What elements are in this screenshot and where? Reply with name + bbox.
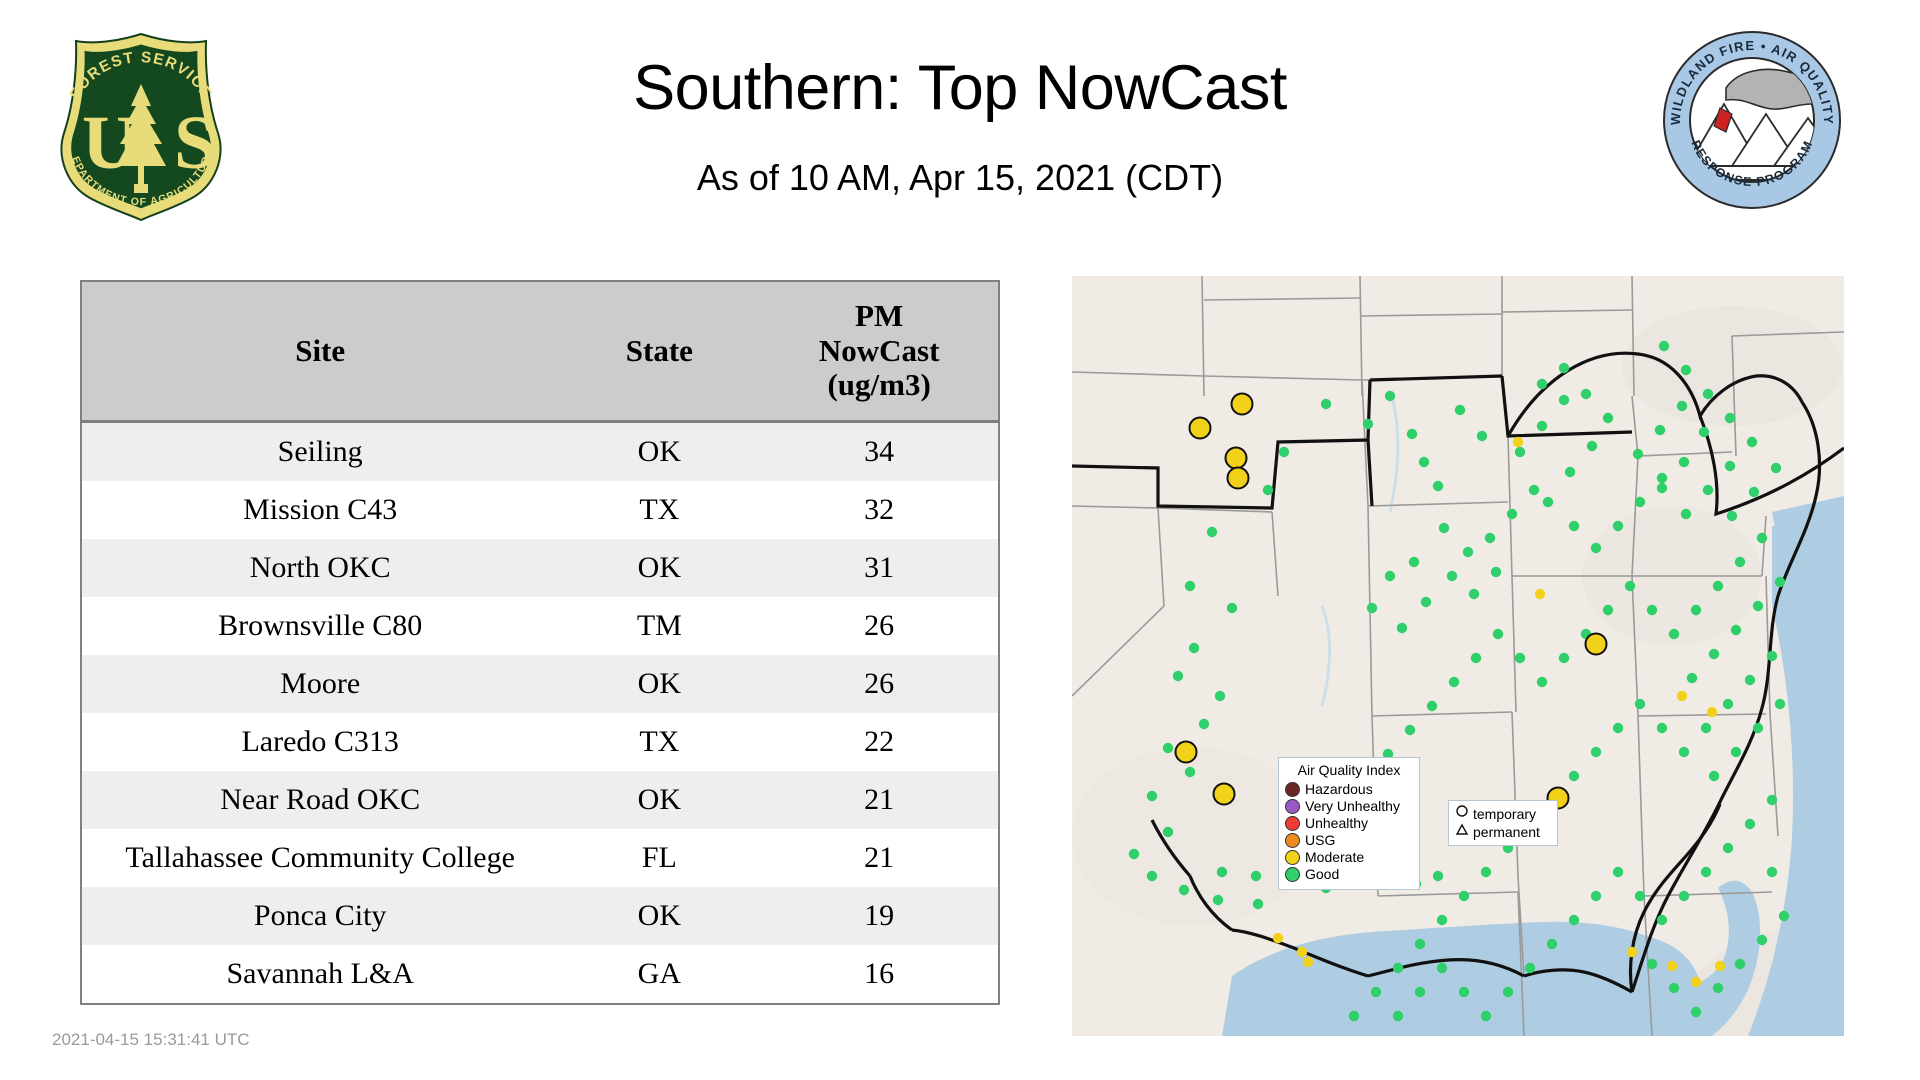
site-marker-good [1657, 473, 1667, 483]
site-marker-good [1393, 963, 1403, 973]
site-marker-good [1635, 497, 1645, 507]
site-marker-good [1421, 597, 1431, 607]
site-marker-good [1537, 677, 1547, 687]
site-marker-good [1613, 521, 1623, 531]
site-marker-good [1477, 431, 1487, 441]
site-marker-good [1415, 939, 1425, 949]
site-marker-good [1279, 447, 1289, 457]
table-cell-site: Near Road OKC [81, 771, 558, 829]
triangle-icon [1454, 823, 1470, 841]
site-marker-good [1185, 767, 1195, 777]
table-cell-value: 26 [760, 597, 999, 655]
site-marker-good [1481, 1011, 1491, 1021]
table-cell-state: GA [558, 945, 760, 1004]
column-header-pm-line3: (ug/m3) [764, 368, 994, 403]
table-cell-state: TX [558, 481, 760, 539]
site-marker-good [1659, 341, 1669, 351]
symbol-legend-label-temporary: temporary [1473, 806, 1536, 823]
site-marker-top-nowcast [1586, 634, 1607, 655]
table-row: Laredo C313TX22 [81, 713, 999, 771]
site-marker-top-nowcast [1228, 468, 1249, 489]
page-subtitle: As of 10 AM, Apr 15, 2021 (CDT) [0, 158, 1920, 198]
table-row: Near Road OKCOK21 [81, 771, 999, 829]
site-marker-good [1455, 405, 1465, 415]
site-marker-good [1735, 959, 1745, 969]
site-marker-good [1657, 723, 1667, 733]
site-marker-good [1723, 699, 1733, 709]
site-marker-good [1409, 557, 1419, 567]
column-header-pm-nowcast: PM NowCast (ug/m3) [760, 281, 999, 422]
site-marker-good [1767, 867, 1777, 877]
table-cell-state: OK [558, 655, 760, 713]
site-marker-good [1677, 401, 1687, 411]
site-marker-good [1657, 483, 1667, 493]
table-cell-site: Laredo C313 [81, 713, 558, 771]
site-marker-good [1647, 959, 1657, 969]
site-marker-good [1731, 625, 1741, 635]
site-marker-good [1525, 963, 1535, 973]
aqi-legend-rows: HazardousVery UnhealthyUnhealthyUSGModer… [1285, 781, 1413, 883]
table-cell-value: 34 [760, 422, 999, 482]
site-marker-good [1565, 467, 1575, 477]
site-marker-good [1507, 509, 1517, 519]
site-marker-good [1569, 771, 1579, 781]
site-marker-good [1543, 497, 1553, 507]
column-header-state: State [558, 281, 760, 422]
site-marker-good [1581, 389, 1591, 399]
site-marker-good [1709, 649, 1719, 659]
site-marker-good [1433, 871, 1443, 881]
site-marker-good [1749, 487, 1759, 497]
air-quality-map[interactable] [1072, 276, 1844, 1036]
table-cell-state: OK [558, 422, 760, 482]
site-marker-good [1635, 699, 1645, 709]
table-row: Mission C43TX32 [81, 481, 999, 539]
site-marker-good [1647, 605, 1657, 615]
site-marker-good [1681, 509, 1691, 519]
aqi-legend-item: Good [1285, 866, 1413, 883]
site-marker-good [1363, 419, 1373, 429]
table-header-row: Site State PM NowCast (ug/m3) [81, 281, 999, 422]
site-marker-good [1655, 425, 1665, 435]
site-marker-good [1393, 1011, 1403, 1021]
site-marker-good [1189, 643, 1199, 653]
aqi-legend-label: Hazardous [1305, 781, 1373, 798]
site-marker-good [1591, 747, 1601, 757]
site-marker-good [1569, 915, 1579, 925]
site-marker-good [1679, 457, 1689, 467]
site-marker-good [1537, 379, 1547, 389]
site-marker-good [1701, 723, 1711, 733]
table-cell-value: 16 [760, 945, 999, 1004]
site-marker-good [1731, 747, 1741, 757]
site-marker-good [1447, 571, 1457, 581]
aqi-legend-label: Very Unhealthy [1305, 798, 1400, 815]
aqi-legend-item: Very Unhealthy [1285, 798, 1413, 815]
site-marker-moderate [1535, 589, 1545, 599]
site-marker-good [1163, 827, 1173, 837]
site-marker-good [1449, 677, 1459, 687]
site-marker-good [1691, 1007, 1701, 1017]
table-cell-site: Mission C43 [81, 481, 558, 539]
page-title: Southern: Top NowCast [0, 55, 1920, 121]
site-marker-good [1735, 557, 1745, 567]
aqi-legend-item: Unhealthy [1285, 815, 1413, 832]
site-marker-good [1207, 527, 1217, 537]
table-row: Savannah L&AGA16 [81, 945, 999, 1004]
aqi-legend-item: Moderate [1285, 849, 1413, 866]
site-marker-good [1747, 437, 1757, 447]
site-marker-good [1767, 795, 1777, 805]
site-marker-good [1179, 885, 1189, 895]
site-marker-good [1371, 987, 1381, 997]
site-marker-good [1463, 547, 1473, 557]
site-marker-good [1745, 675, 1755, 685]
site-marker-good [1633, 449, 1643, 459]
site-marker-good [1745, 819, 1755, 829]
site-marker-good [1569, 521, 1579, 531]
site-marker-moderate [1691, 977, 1701, 987]
site-marker-good [1775, 577, 1785, 587]
site-marker-good [1713, 581, 1723, 591]
table-cell-site: Ponca City [81, 887, 558, 945]
site-marker-good [1687, 673, 1697, 683]
site-marker-good [1415, 987, 1425, 997]
site-marker-top-nowcast [1214, 784, 1235, 805]
site-marker-good [1469, 589, 1479, 599]
site-marker-good [1405, 725, 1415, 735]
site-marker-moderate [1303, 957, 1313, 967]
site-marker-good [1679, 891, 1689, 901]
site-marker-good [1217, 867, 1227, 877]
site-marker-moderate [1513, 437, 1523, 447]
site-marker-good [1437, 963, 1447, 973]
aqi-legend-label: Good [1305, 866, 1339, 883]
site-marker-good [1471, 653, 1481, 663]
site-marker-good [1603, 413, 1613, 423]
site-marker-good [1397, 623, 1407, 633]
table-cell-value: 26 [760, 655, 999, 713]
table-cell-state: OK [558, 771, 760, 829]
site-marker-good [1503, 987, 1513, 997]
column-header-site: Site [81, 281, 558, 422]
column-header-pm-line1: PM [764, 299, 994, 334]
site-marker-good [1709, 771, 1719, 781]
site-marker-good [1703, 485, 1713, 495]
table-cell-site: Moore [81, 655, 558, 713]
table-cell-site: North OKC [81, 539, 558, 597]
site-marker-good [1559, 395, 1569, 405]
site-marker-good [1713, 983, 1723, 993]
site-marker-good [1775, 699, 1785, 709]
site-marker-good [1625, 581, 1635, 591]
site-marker-good [1419, 457, 1429, 467]
site-marker-good [1437, 915, 1447, 925]
site-marker-good [1635, 891, 1645, 901]
site-marker-good [1251, 871, 1261, 881]
table-row: MooreOK26 [81, 655, 999, 713]
table-cell-value: 32 [760, 481, 999, 539]
site-marker-good [1537, 421, 1547, 431]
site-marker-good [1253, 899, 1263, 909]
site-marker-good [1757, 533, 1767, 543]
site-marker-good [1485, 533, 1495, 543]
table-cell-state: OK [558, 539, 760, 597]
site-marker-good [1515, 447, 1525, 457]
table-cell-value: 19 [760, 887, 999, 945]
site-marker-good [1547, 939, 1557, 949]
site-marker-good [1727, 511, 1737, 521]
table-cell-site: Brownsville C80 [81, 597, 558, 655]
site-marker-good [1515, 653, 1525, 663]
site-marker-good [1657, 915, 1667, 925]
site-marker-good [1757, 935, 1767, 945]
aqi-legend-item: USG [1285, 832, 1413, 849]
table-cell-site: Tallahassee Community College [81, 829, 558, 887]
aqi-legend-swatch [1285, 833, 1300, 848]
footer-timestamp: 2021-04-15 15:31:41 UTC [52, 1030, 250, 1050]
site-marker-good [1725, 461, 1735, 471]
site-marker-good [1491, 567, 1501, 577]
site-marker-good [1725, 413, 1735, 423]
aqi-legend: Air Quality Index HazardousVery Unhealth… [1278, 757, 1420, 890]
site-marker-good [1591, 543, 1601, 553]
aqi-legend-swatch [1285, 799, 1300, 814]
site-marker-good [1559, 363, 1569, 373]
site-marker-top-nowcast [1190, 418, 1211, 439]
table-row: North OKCOK31 [81, 539, 999, 597]
site-marker-good [1723, 843, 1733, 853]
site-marker-good [1779, 911, 1789, 921]
site-marker-good [1433, 481, 1443, 491]
site-marker-good [1699, 427, 1709, 437]
site-marker-good [1701, 867, 1711, 877]
site-marker-good [1185, 581, 1195, 591]
site-marker-good [1199, 719, 1209, 729]
table-cell-value: 21 [760, 771, 999, 829]
symbol-legend-row-temporary: temporary [1454, 805, 1552, 823]
site-marker-moderate [1273, 933, 1283, 943]
symbol-legend-row-permanent: permanent [1454, 823, 1552, 841]
site-marker-good [1669, 629, 1679, 639]
site-marker-top-nowcast [1232, 394, 1253, 415]
site-marker-moderate [1715, 961, 1725, 971]
site-marker-moderate [1677, 691, 1687, 701]
site-marker-good [1771, 463, 1781, 473]
site-marker-good [1407, 429, 1417, 439]
site-marker-good [1367, 603, 1377, 613]
table-cell-state: TM [558, 597, 760, 655]
table-cell-state: FL [558, 829, 760, 887]
site-marker-good [1173, 671, 1183, 681]
site-marker-moderate [1707, 707, 1717, 717]
table-body: SeilingOK34Mission C43TX32North OKCOK31B… [81, 422, 999, 1005]
site-marker-good [1147, 791, 1157, 801]
site-marker-good [1703, 389, 1713, 399]
site-marker-good [1439, 523, 1449, 533]
site-marker-good [1753, 723, 1763, 733]
site-marker-moderate [1297, 947, 1307, 957]
table-row: Ponca CityOK19 [81, 887, 999, 945]
site-marker-moderate [1667, 961, 1677, 971]
site-marker-top-nowcast [1226, 448, 1247, 469]
aqi-legend-item: Hazardous [1285, 781, 1413, 798]
site-marker-good [1459, 891, 1469, 901]
table-cell-site: Savannah L&A [81, 945, 558, 1004]
site-marker-good [1385, 391, 1395, 401]
site-marker-good [1147, 871, 1157, 881]
site-marker-good [1753, 601, 1763, 611]
aqi-legend-title: Air Quality Index [1285, 762, 1413, 778]
circle-icon [1454, 805, 1470, 823]
aqi-legend-label: USG [1305, 832, 1335, 849]
table-cell-value: 21 [760, 829, 999, 887]
site-marker-good [1227, 603, 1237, 613]
site-marker-good [1481, 867, 1491, 877]
site-marker-good [1385, 571, 1395, 581]
site-marker-good [1603, 605, 1613, 615]
aqi-legend-swatch [1285, 850, 1300, 865]
aqi-legend-swatch [1285, 867, 1300, 882]
site-marker-good [1263, 485, 1273, 495]
symbol-legend-label-permanent: permanent [1473, 824, 1540, 841]
site-marker-good [1493, 629, 1503, 639]
table-row: Brownsville C80TM26 [81, 597, 999, 655]
table-header: Site State PM NowCast (ug/m3) [81, 281, 999, 422]
site-marker-good [1349, 1011, 1359, 1021]
table-cell-site: Seiling [81, 422, 558, 482]
column-header-pm-line2: NowCast [764, 334, 994, 369]
table-cell-value: 22 [760, 713, 999, 771]
table-cell-state: OK [558, 887, 760, 945]
site-marker-good [1691, 605, 1701, 615]
table-cell-state: TX [558, 713, 760, 771]
site-marker-good [1427, 701, 1437, 711]
site-marker-good [1767, 651, 1777, 661]
site-marker-good [1669, 983, 1679, 993]
table-cell-value: 31 [760, 539, 999, 597]
site-marker-good [1679, 747, 1689, 757]
top-nowcast-table-container: Site State PM NowCast (ug/m3) SeilingOK3… [80, 280, 1000, 1005]
site-marker-good [1587, 441, 1597, 451]
site-marker-good [1459, 987, 1469, 997]
site-marker-good [1681, 365, 1691, 375]
aqi-legend-swatch [1285, 782, 1300, 797]
site-marker-good [1163, 743, 1173, 753]
site-marker-good [1613, 723, 1623, 733]
aqi-legend-label: Unhealthy [1305, 815, 1368, 832]
symbol-legend: temporary permanent [1448, 800, 1558, 846]
table-row: SeilingOK34 [81, 422, 999, 482]
site-marker-top-nowcast [1176, 742, 1197, 763]
aqi-legend-swatch [1285, 816, 1300, 831]
site-marker-good [1321, 399, 1331, 409]
aqi-legend-label: Moderate [1305, 849, 1364, 866]
site-marker-good [1213, 895, 1223, 905]
site-marker-moderate [1627, 947, 1637, 957]
table-row: Tallahassee Community CollegeFL21 [81, 829, 999, 887]
site-marker-good [1129, 849, 1139, 859]
top-nowcast-table: Site State PM NowCast (ug/m3) SeilingOK3… [80, 280, 1000, 1005]
site-marker-good [1591, 891, 1601, 901]
site-marker-good [1215, 691, 1225, 701]
site-marker-good [1613, 867, 1623, 877]
site-marker-good [1529, 485, 1539, 495]
site-marker-good [1559, 653, 1569, 663]
